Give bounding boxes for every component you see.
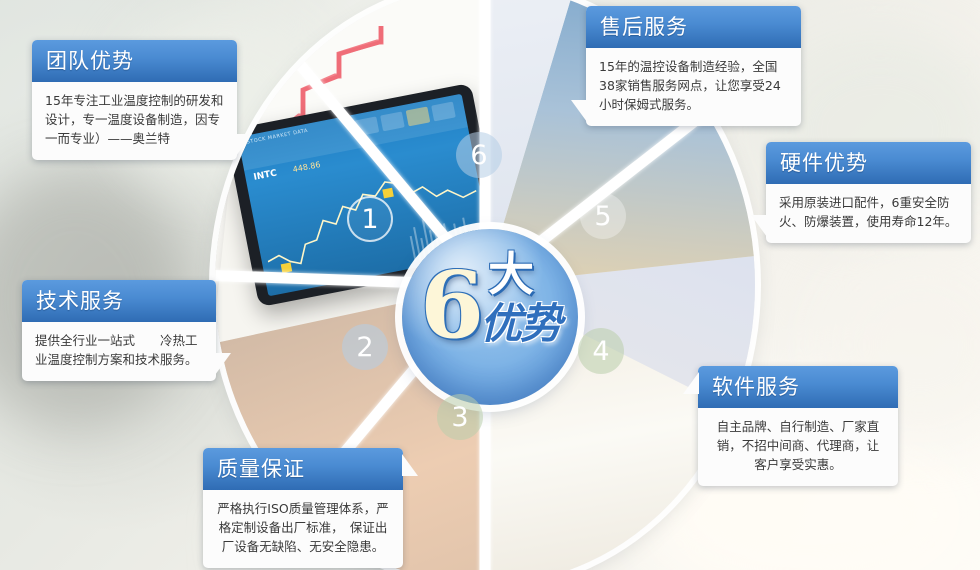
card-software-service-title: 软件服务 [698,366,898,408]
segment-number-5-label: 5 [594,201,611,232]
card-hardware-advantage-body: 采用原装进口配件，6重安全防火、防爆装置，使用寿命12年。 [766,184,971,243]
segment-number-4[interactable]: 4 [578,328,624,374]
card-tail [236,134,252,156]
card-team-advantage-title: 团队优势 [32,40,237,82]
tablet-ticker: INTC [253,169,278,183]
center-unit-label: 大 [488,251,534,297]
card-quality-assurance-title: 质量保证 [203,448,403,490]
card-quality-assurance-body: 严格执行ISO质量管理体系，严格定制设备出厂标准， 保证出厂设备无缺陷、无安全隐… [203,490,403,568]
segment-number-2-label: 2 [356,332,373,363]
center-number: 6 [420,259,484,351]
card-tail [571,100,587,122]
segment-number-6-label: 6 [470,140,487,171]
card-tail [215,353,231,375]
card-quality-assurance[interactable]: 质量保证 严格执行ISO质量管理体系，严格定制设备出厂标准， 保证出厂设备无缺陷… [203,448,403,568]
segment-number-6[interactable]: 6 [456,132,502,178]
card-hardware-advantage[interactable]: 硬件优势 采用原装进口配件，6重安全防火、防爆装置，使用寿命12年。 [766,142,971,243]
center-badge-six-advantages: 6 大 优势 [402,229,578,405]
card-tail [751,215,767,237]
card-tail [683,372,699,394]
card-technical-service[interactable]: 技术服务 提供全行业一站式 冷热工业温度控制方案和技术服务。 [22,280,216,381]
segment-number-5[interactable]: 5 [580,193,626,239]
infographic-canvas: STOCK MARKET DATA INTC 448.86 [0,0,980,570]
segment-number-4-label: 4 [592,336,609,367]
segment-number-3[interactable]: 3 [437,394,483,440]
card-after-sales-service[interactable]: 售后服务 15年的温控设备制造经验，全国38家销售服务网点，让您享受24小时保姆… [586,6,801,126]
card-hardware-advantage-title: 硬件优势 [766,142,971,184]
segment-number-1[interactable]: 1 [347,196,393,242]
card-after-sales-service-body: 15年的温控设备制造经验，全国38家销售服务网点，让您享受24小时保姆式服务。 [586,48,801,126]
tablet-price: 448.86 [292,160,321,174]
card-technical-service-body: 提供全行业一站式 冷热工业温度控制方案和技术服务。 [22,322,216,381]
card-team-advantage-body: 15年专注工业温度控制的研发和设计，专一温度设备制造，因专一而专业）——奥兰特 [32,82,237,160]
segment-number-3-label: 3 [451,402,468,433]
center-word-label: 优势 [480,303,560,345]
card-after-sales-service-title: 售后服务 [586,6,801,48]
segment-number-2[interactable]: 2 [342,324,388,370]
segment-number-1-label: 1 [361,204,378,235]
card-software-service[interactable]: 软件服务 自主品牌、自行制造、厂家直销，不招中间商、代理商，让客户享受实惠。 [698,366,898,486]
card-tail [402,454,418,476]
card-team-advantage[interactable]: 团队优势 15年专注工业温度控制的研发和设计，专一温度设备制造，因专一而专业）—… [32,40,237,160]
card-technical-service-title: 技术服务 [22,280,216,322]
card-software-service-body: 自主品牌、自行制造、厂家直销，不招中间商、代理商，让客户享受实惠。 [698,408,898,486]
